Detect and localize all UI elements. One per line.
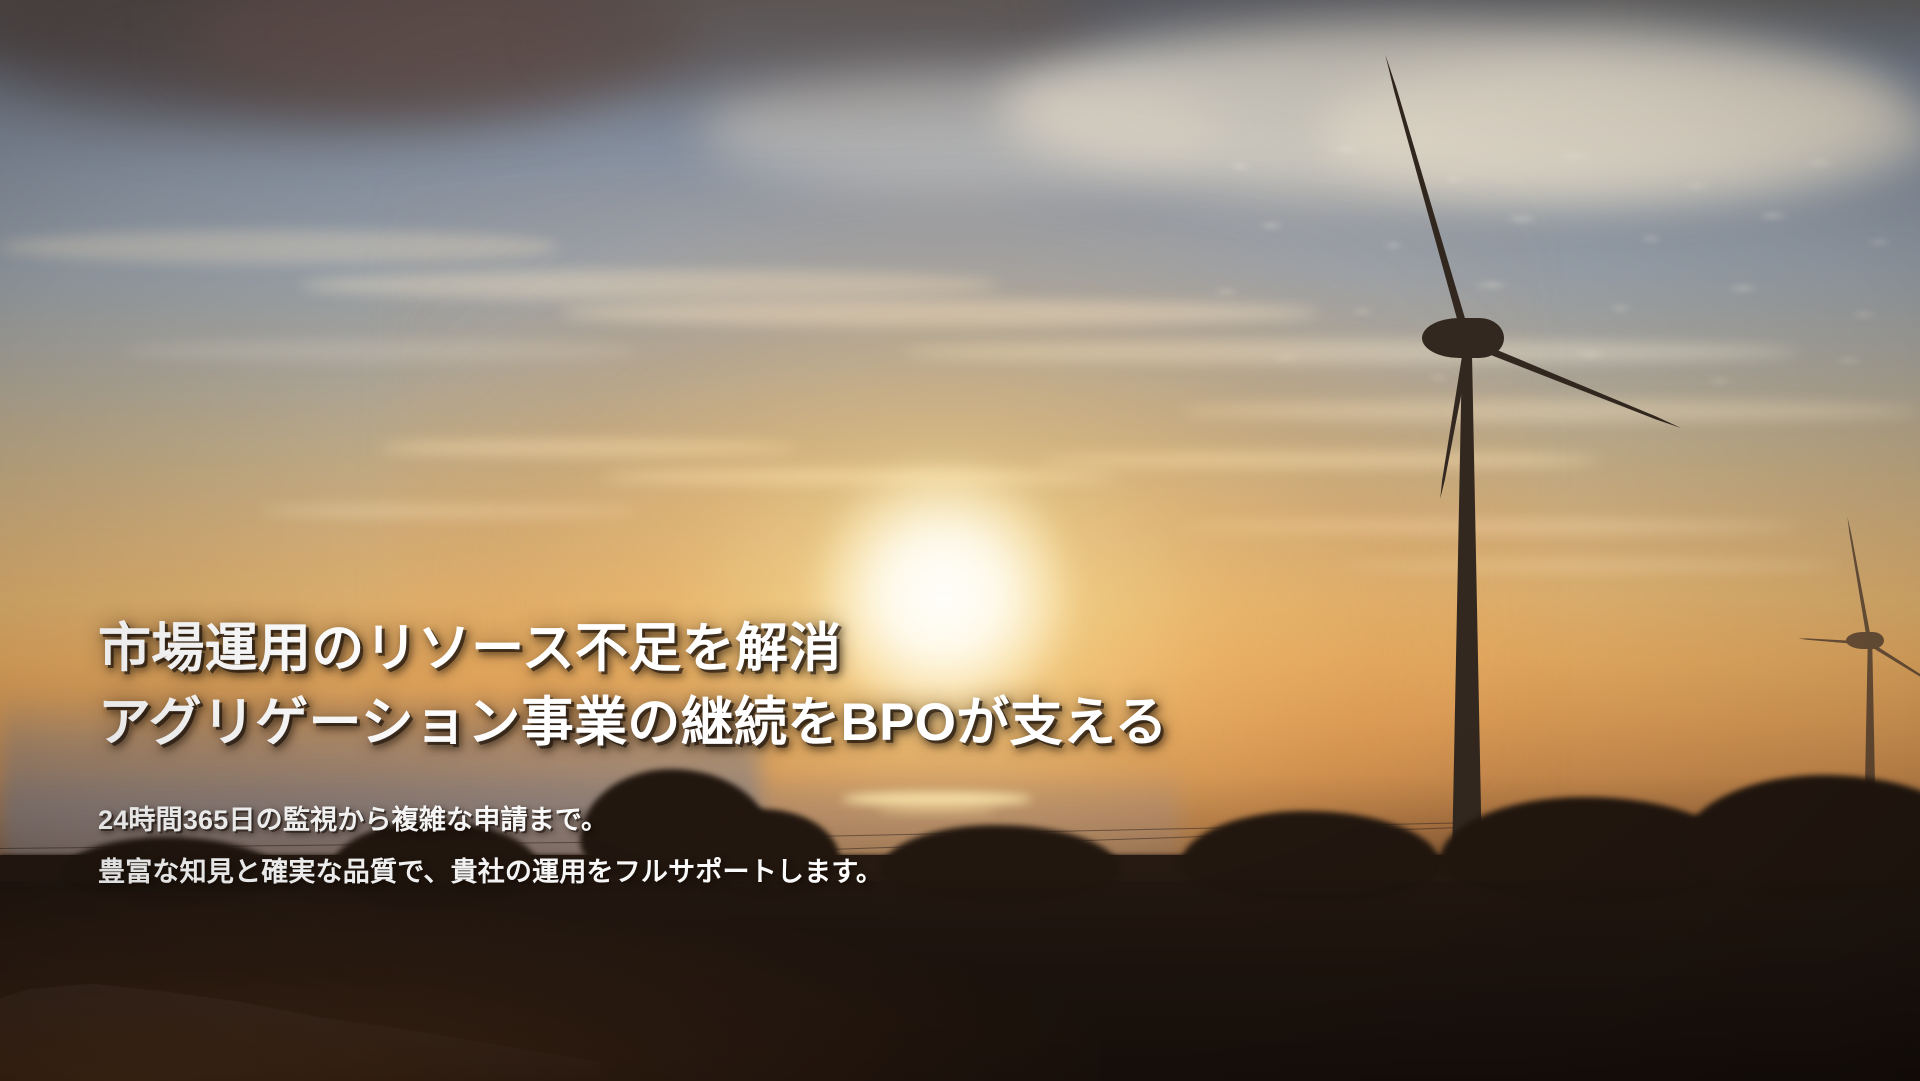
turbine-hub	[1458, 324, 1488, 354]
cloud-bright-mid	[700, 70, 1220, 190]
hero-subcopy: 24時間365日の監視から複雑な申請まで。 豊富な知見と確実な品質で、貴社の運用…	[98, 794, 1548, 898]
hero-banner: 市場運用のリソース不足を解消 アグリゲーション事業の継続をBPOが支える 24時…	[0, 0, 1920, 1081]
turbine-nacelle-secondary	[1846, 632, 1884, 649]
turbine-blade-up	[1373, 51, 1481, 347]
hero-subline-2: 豊富な知見と確実な品質で、貴社の運用をフルサポートします。	[98, 846, 1548, 898]
hero-headline-line-2: アグリゲーション事業の継続をBPOが支える	[98, 686, 1548, 760]
hero-headline-line-1: 市場運用のリソース不足を解消	[98, 612, 1548, 686]
hero-subline-1: 24時間365日の監視から複雑な申請まで。	[98, 794, 1548, 846]
turbine-blade-secondary-up	[1841, 516, 1877, 646]
hero-copy: 市場運用のリソース不足を解消 アグリゲーション事業の継続をBPOが支える 24時…	[98, 612, 1548, 898]
